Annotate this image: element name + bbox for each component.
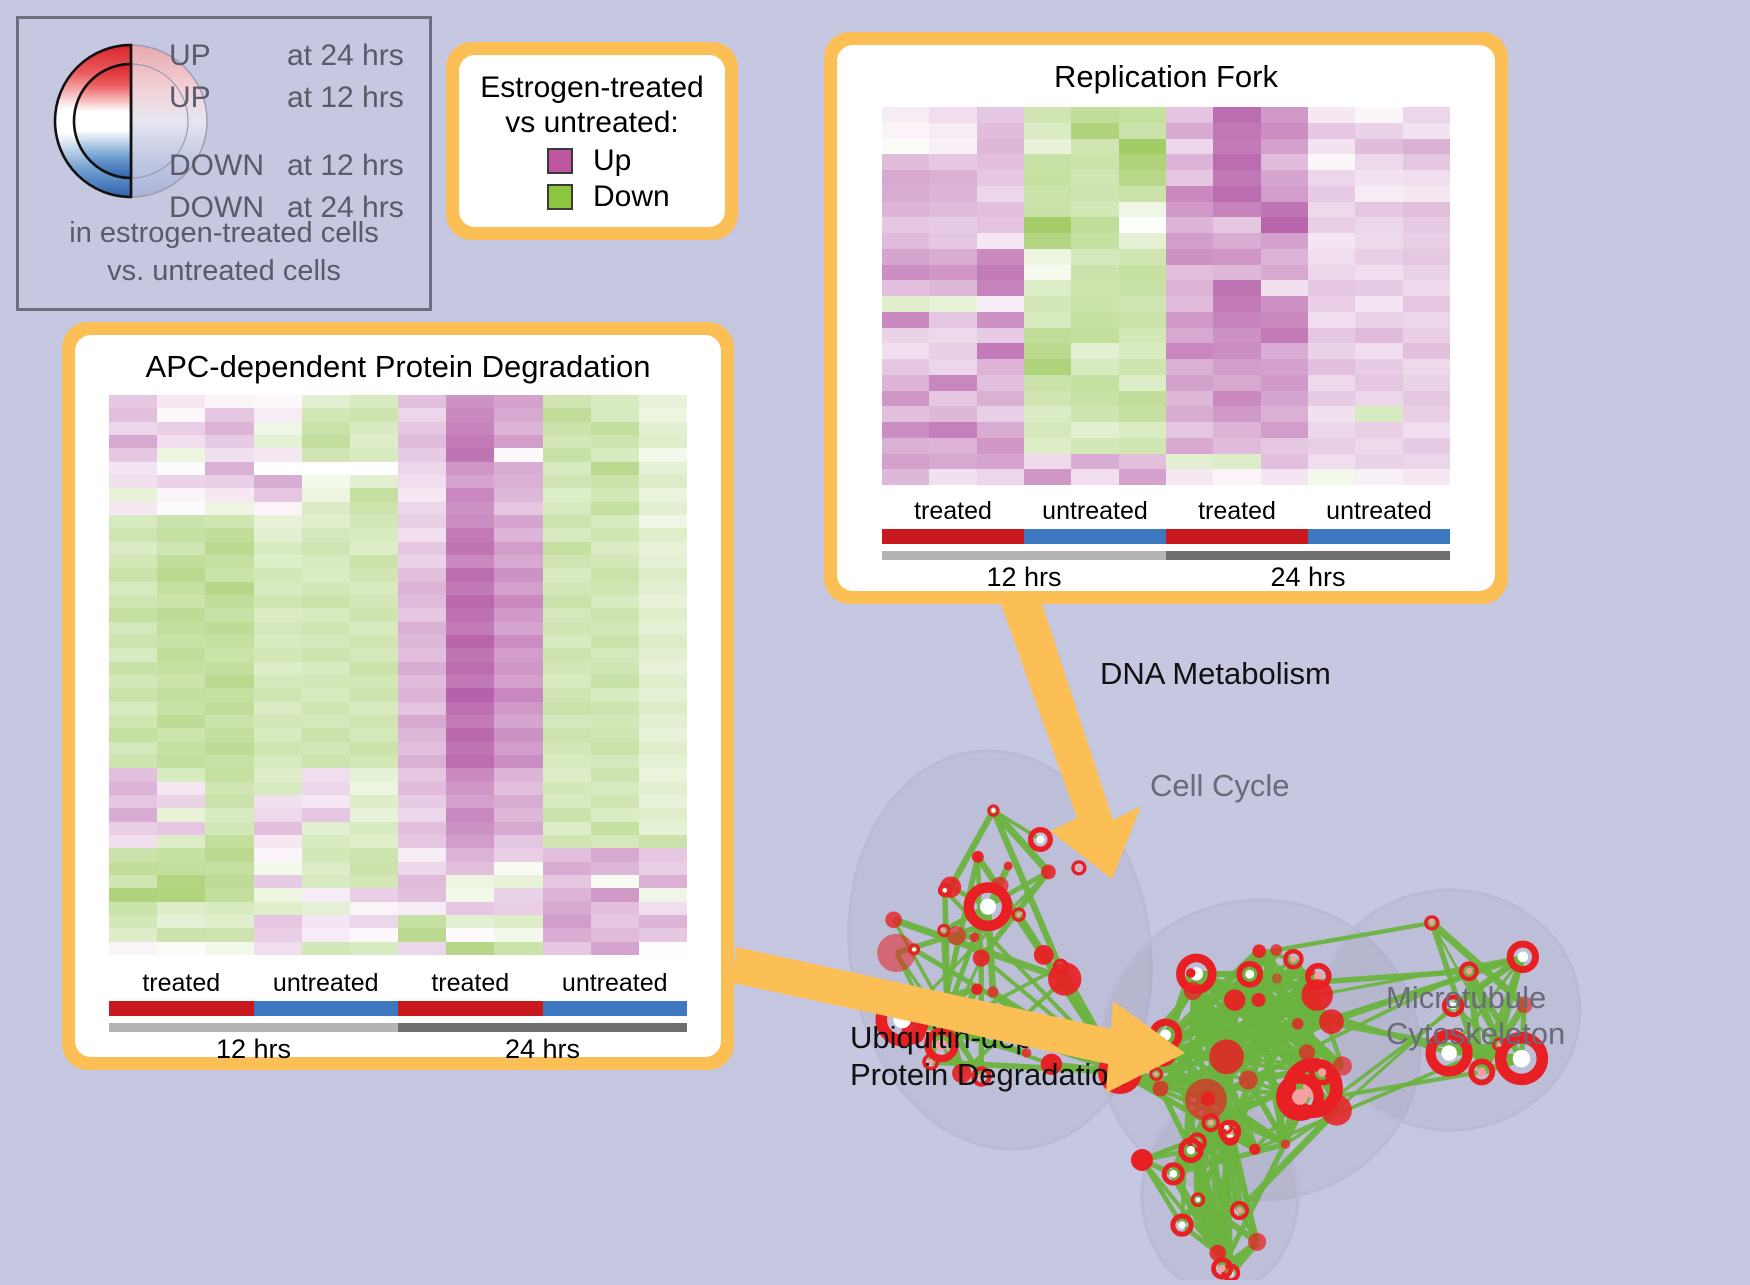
- arrow-replication-fork: [1001, 604, 1141, 879]
- figure-canvas: UP at 24 hrs UP at 12 hrs DOWN at 12 hrs…: [0, 0, 1750, 1279]
- arrow-apc-degradation: [733, 947, 1185, 1093]
- callout-arrows: [0, 0, 1750, 1279]
